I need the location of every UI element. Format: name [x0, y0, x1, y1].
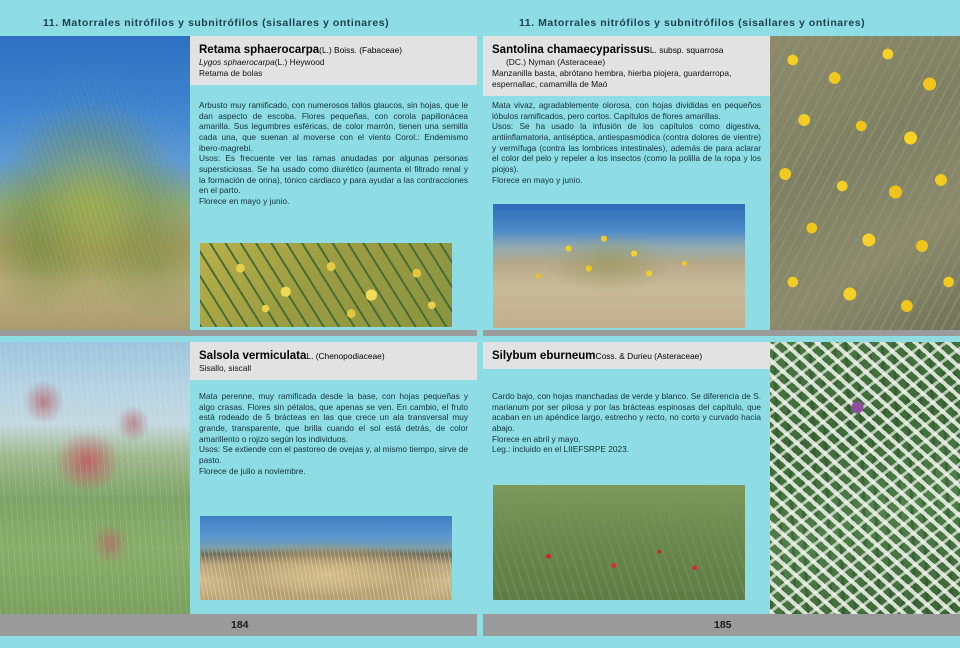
page-left: Retama sphaerocarpa(L.) Boiss. (Fabaceae…: [0, 36, 477, 614]
salsola-authority: L. (Chenopodiaceae): [306, 351, 384, 361]
salsola-vernacular-name: Sisallo, siscall: [199, 363, 469, 374]
salsola-uses: Usos: Se extiende con el pastoreo de ove…: [199, 444, 468, 465]
retama-uses: Usos: Es frecuente ver las ramas anudada…: [199, 153, 468, 196]
page-number-right: 185: [714, 619, 732, 631]
santolina-flowering-mass-photo: [770, 36, 960, 336]
retama-vernacular-name: Retama de bolas: [199, 68, 469, 79]
entry-separator: [483, 330, 960, 336]
book-spread: 11. Matorrales nitrófilos y subnitrófilo…: [0, 0, 960, 648]
retama-flowering: Florece en mayo y junio.: [199, 196, 468, 207]
santolina-description: Mata vivaz, agradablemente olorosa, con …: [492, 100, 761, 121]
species-entry-silybum: Silybum eburneumCoss. & Durieu (Asterace…: [483, 342, 960, 614]
silybum-legal-status: Leg.: incluido en el LIIEFSRPE 2023.: [492, 444, 761, 455]
species-entry-santolina: Santolina chamaecyparissusL. subsp. squa…: [483, 36, 960, 336]
salsola-name-panel: Salsola vermiculataL. (Chenopodiaceae) S…: [190, 342, 477, 380]
salsola-description: Mata perenne, muy ramificada desde la ba…: [199, 391, 468, 444]
retama-flowers-closeup-photo: [200, 243, 452, 327]
retama-description-block: Arbusto muy ramificado, con numerosos ta…: [190, 100, 477, 207]
running-header-left: 11. Matorrales nitrófilos y subnitrófilo…: [43, 17, 389, 29]
silybum-scientific-name: Silybum eburneumCoss. & Durieu (Asterace…: [492, 349, 762, 363]
retama-synonym-authority: (L.) Heywood: [275, 57, 325, 67]
bottom-margin-band: [0, 636, 960, 648]
santolina-authority-line2: (DC.) Nyman (Asteraceae): [492, 57, 762, 68]
santolina-uses: Usos: Se ha usado la infusión de los cap…: [492, 121, 761, 174]
silybum-text-column: Silybum eburneumCoss. & Durieu (Asterace…: [483, 342, 770, 614]
silybum-authority: Coss. & Durieu (Asteraceae): [596, 351, 703, 361]
salsola-flowering: Florece de julio a noviembre.: [199, 466, 468, 477]
page-number-left: 184: [231, 619, 249, 631]
santolina-vernacular-name: Manzanilla basta, abrótano hembra, hierb…: [492, 68, 762, 90]
retama-authority: (L.) Boiss. (Fabaceae): [319, 45, 402, 55]
running-header-right: 11. Matorrales nitrófilos y subnitrófilo…: [519, 17, 865, 29]
silybum-description-block: Cardo bajo, con hojas manchadas de verde…: [483, 391, 770, 455]
santolina-shrub-habitat-photo: [493, 204, 745, 328]
entry-separator: [0, 330, 477, 336]
retama-name-panel: Retama sphaerocarpa(L.) Boiss. (Fabaceae…: [190, 36, 477, 85]
footer-gutter: [477, 614, 483, 636]
silybum-rosette-photo: [770, 342, 960, 614]
santolina-name-panel: Santolina chamaecyparissusL. subsp. squa…: [483, 36, 770, 96]
retama-synonym: Lygos sphaerocarpa(L.) Heywood: [199, 57, 469, 68]
salsola-description-block: Mata perenne, muy ramificada desde la ba…: [190, 391, 477, 476]
retama-description: Arbusto muy ramificado, con numerosos ta…: [199, 100, 468, 153]
retama-scientific-name: Retama sphaerocarpa(L.) Boiss. (Fabaceae…: [199, 43, 469, 57]
page-gutter: [477, 36, 483, 614]
santolina-scientific-name: Santolina chamaecyparissusL. subsp. squa…: [492, 43, 762, 57]
santolina-flowering: Florece en mayo y junio.: [492, 175, 761, 186]
salsola-scientific-name: Salsola vermiculataL. (Chenopodiaceae): [199, 349, 469, 363]
salsola-fruiting-spike-photo: [0, 342, 190, 614]
santolina-text-column: Santolina chamaecyparissusL. subsp. squa…: [483, 36, 770, 336]
species-entry-salsola: Salsola vermiculataL. (Chenopodiaceae) S…: [0, 342, 477, 614]
salsola-text-column: Salsola vermiculataL. (Chenopodiaceae) S…: [190, 342, 477, 614]
retama-habit-photo: [0, 36, 190, 336]
silybum-field-poppies-photo: [493, 485, 745, 600]
species-entry-retama: Retama sphaerocarpa(L.) Boiss. (Fabaceae…: [0, 36, 477, 336]
santolina-authority: L. subsp. squarrosa: [650, 45, 724, 55]
retama-text-column: Retama sphaerocarpa(L.) Boiss. (Fabaceae…: [190, 36, 477, 336]
page-right: Santolina chamaecyparissusL. subsp. squa…: [483, 36, 960, 614]
santolina-description-block: Mata vivaz, agradablemente olorosa, con …: [483, 100, 770, 185]
silybum-flowering: Florece en abril y mayo.: [492, 434, 761, 445]
salsola-shrub-habit-photo: [200, 516, 452, 600]
silybum-name-panel: Silybum eburneumCoss. & Durieu (Asterace…: [483, 342, 770, 369]
silybum-description: Cardo bajo, con hojas manchadas de verde…: [492, 391, 761, 434]
